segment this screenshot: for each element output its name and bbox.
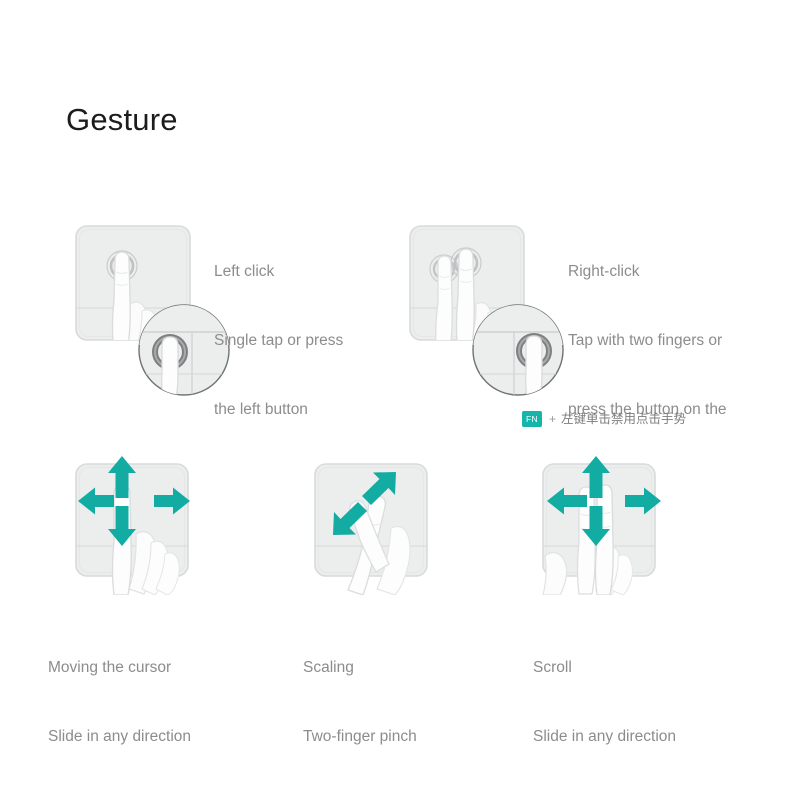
caption-line: Scroll bbox=[533, 656, 773, 679]
caption-line: Scaling bbox=[303, 656, 543, 679]
fn-plus-sign: + bbox=[549, 411, 556, 427]
fn-key-badge: FN bbox=[522, 411, 542, 427]
gesture-page: Gesture bbox=[0, 0, 800, 800]
illustration-right-click bbox=[396, 212, 576, 397]
fn-hint-text: 左键单击禁用点击手势 bbox=[561, 411, 686, 427]
illustration-moving-the-cursor bbox=[62, 450, 222, 595]
caption-scaling: Scaling Two-finger pinch bbox=[303, 610, 543, 794]
caption-line: the left button bbox=[214, 398, 394, 421]
caption-line: Tap with two fingers or bbox=[568, 329, 783, 352]
caption-line: Two-finger pinch bbox=[303, 725, 543, 748]
page-title: Gesture bbox=[66, 104, 178, 135]
caption-left-click: Left click Single tap or press the left … bbox=[214, 214, 394, 467]
caption-scroll: Scroll Slide in any direction bbox=[533, 610, 773, 794]
illustration-scaling bbox=[295, 450, 460, 595]
caption-line: Right-click bbox=[568, 260, 783, 283]
caption-line: Left click bbox=[214, 260, 394, 283]
caption-moving-the-cursor: Moving the cursor Slide in any direction bbox=[48, 610, 288, 794]
caption-line: Single tap or press bbox=[214, 329, 394, 352]
illustration-scroll bbox=[525, 450, 690, 595]
caption-line: Moving the cursor bbox=[48, 656, 288, 679]
caption-line: Slide in any direction bbox=[48, 725, 288, 748]
caption-line: Slide in any direction bbox=[533, 725, 773, 748]
fn-hint: FN + 左键单击禁用点击手势 bbox=[522, 410, 686, 428]
